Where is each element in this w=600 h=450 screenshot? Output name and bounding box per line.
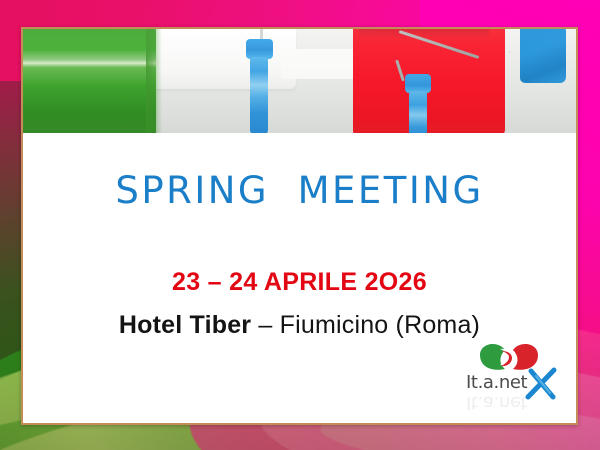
green-paint-swatch	[23, 29, 156, 133]
paint-roller-left	[250, 57, 268, 133]
poster-card: SPRING MEETING 23 – 24 APRILE 2O26 Hotel…	[21, 27, 578, 425]
white-wall-swatch	[141, 29, 296, 89]
event-venue-location: – Fiumicino (Roma)	[251, 311, 480, 339]
event-venue: Hotel Tiber – Fiumicino (Roma)	[23, 311, 576, 340]
logo-wordmark-reflection: It.a.net	[466, 392, 562, 413]
banner-image	[23, 29, 576, 133]
paint-roller-right	[409, 91, 427, 133]
paint-roller-left-head	[246, 39, 273, 59]
page-title: SPRING MEETING	[23, 169, 576, 212]
poster: SPRING MEETING 23 – 24 APRILE 2O26 Hotel…	[0, 0, 600, 450]
event-venue-name: Hotel Tiber	[119, 311, 251, 339]
poster-content: SPRING MEETING 23 – 24 APRILE 2O26 Hotel…	[23, 133, 576, 423]
blue-paint-swatch	[520, 29, 566, 83]
event-date: 23 – 24 APRILE 2O26	[23, 268, 576, 297]
logo[interactable]: It.a.net It.a.net	[466, 339, 562, 415]
